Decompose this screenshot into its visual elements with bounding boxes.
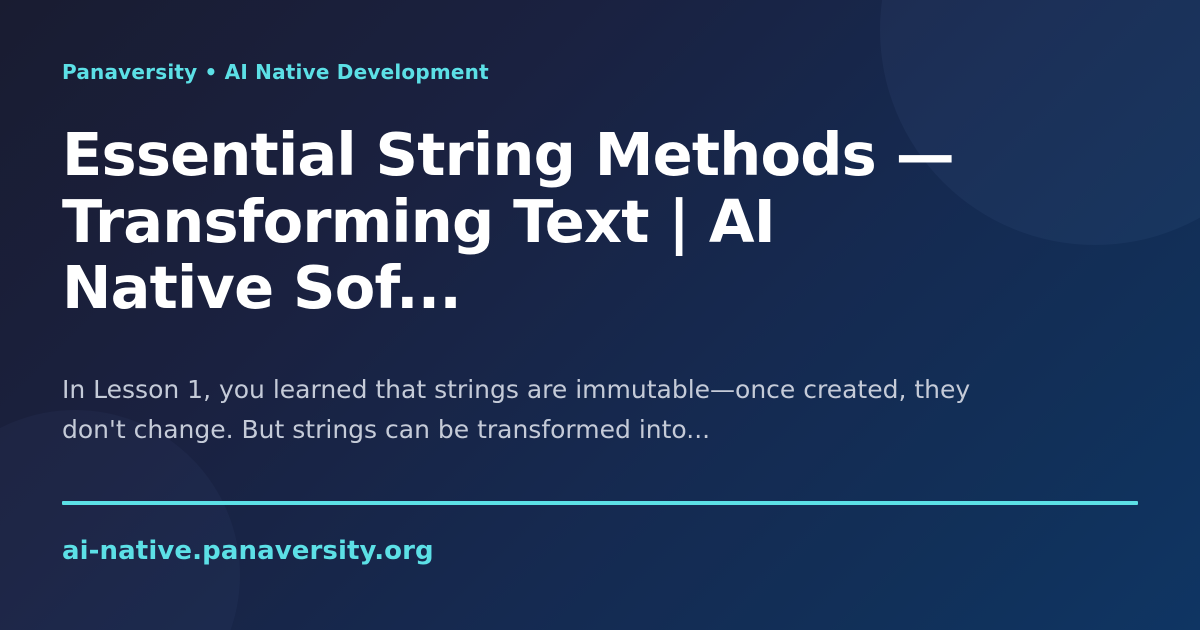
accent-divider: [62, 501, 1138, 505]
card-content: Panaversity • AI Native Development Esse…: [0, 0, 1200, 630]
page-title: Essential String Methods — Transforming …: [62, 122, 1002, 322]
site-url-label: ai-native.panaversity.org: [62, 536, 434, 566]
og-card: Panaversity • AI Native Development Esse…: [0, 0, 1200, 630]
brand-eyebrow: Panaversity • AI Native Development: [62, 60, 489, 84]
page-description: In Lesson 1, you learned that strings ar…: [62, 370, 1022, 449]
